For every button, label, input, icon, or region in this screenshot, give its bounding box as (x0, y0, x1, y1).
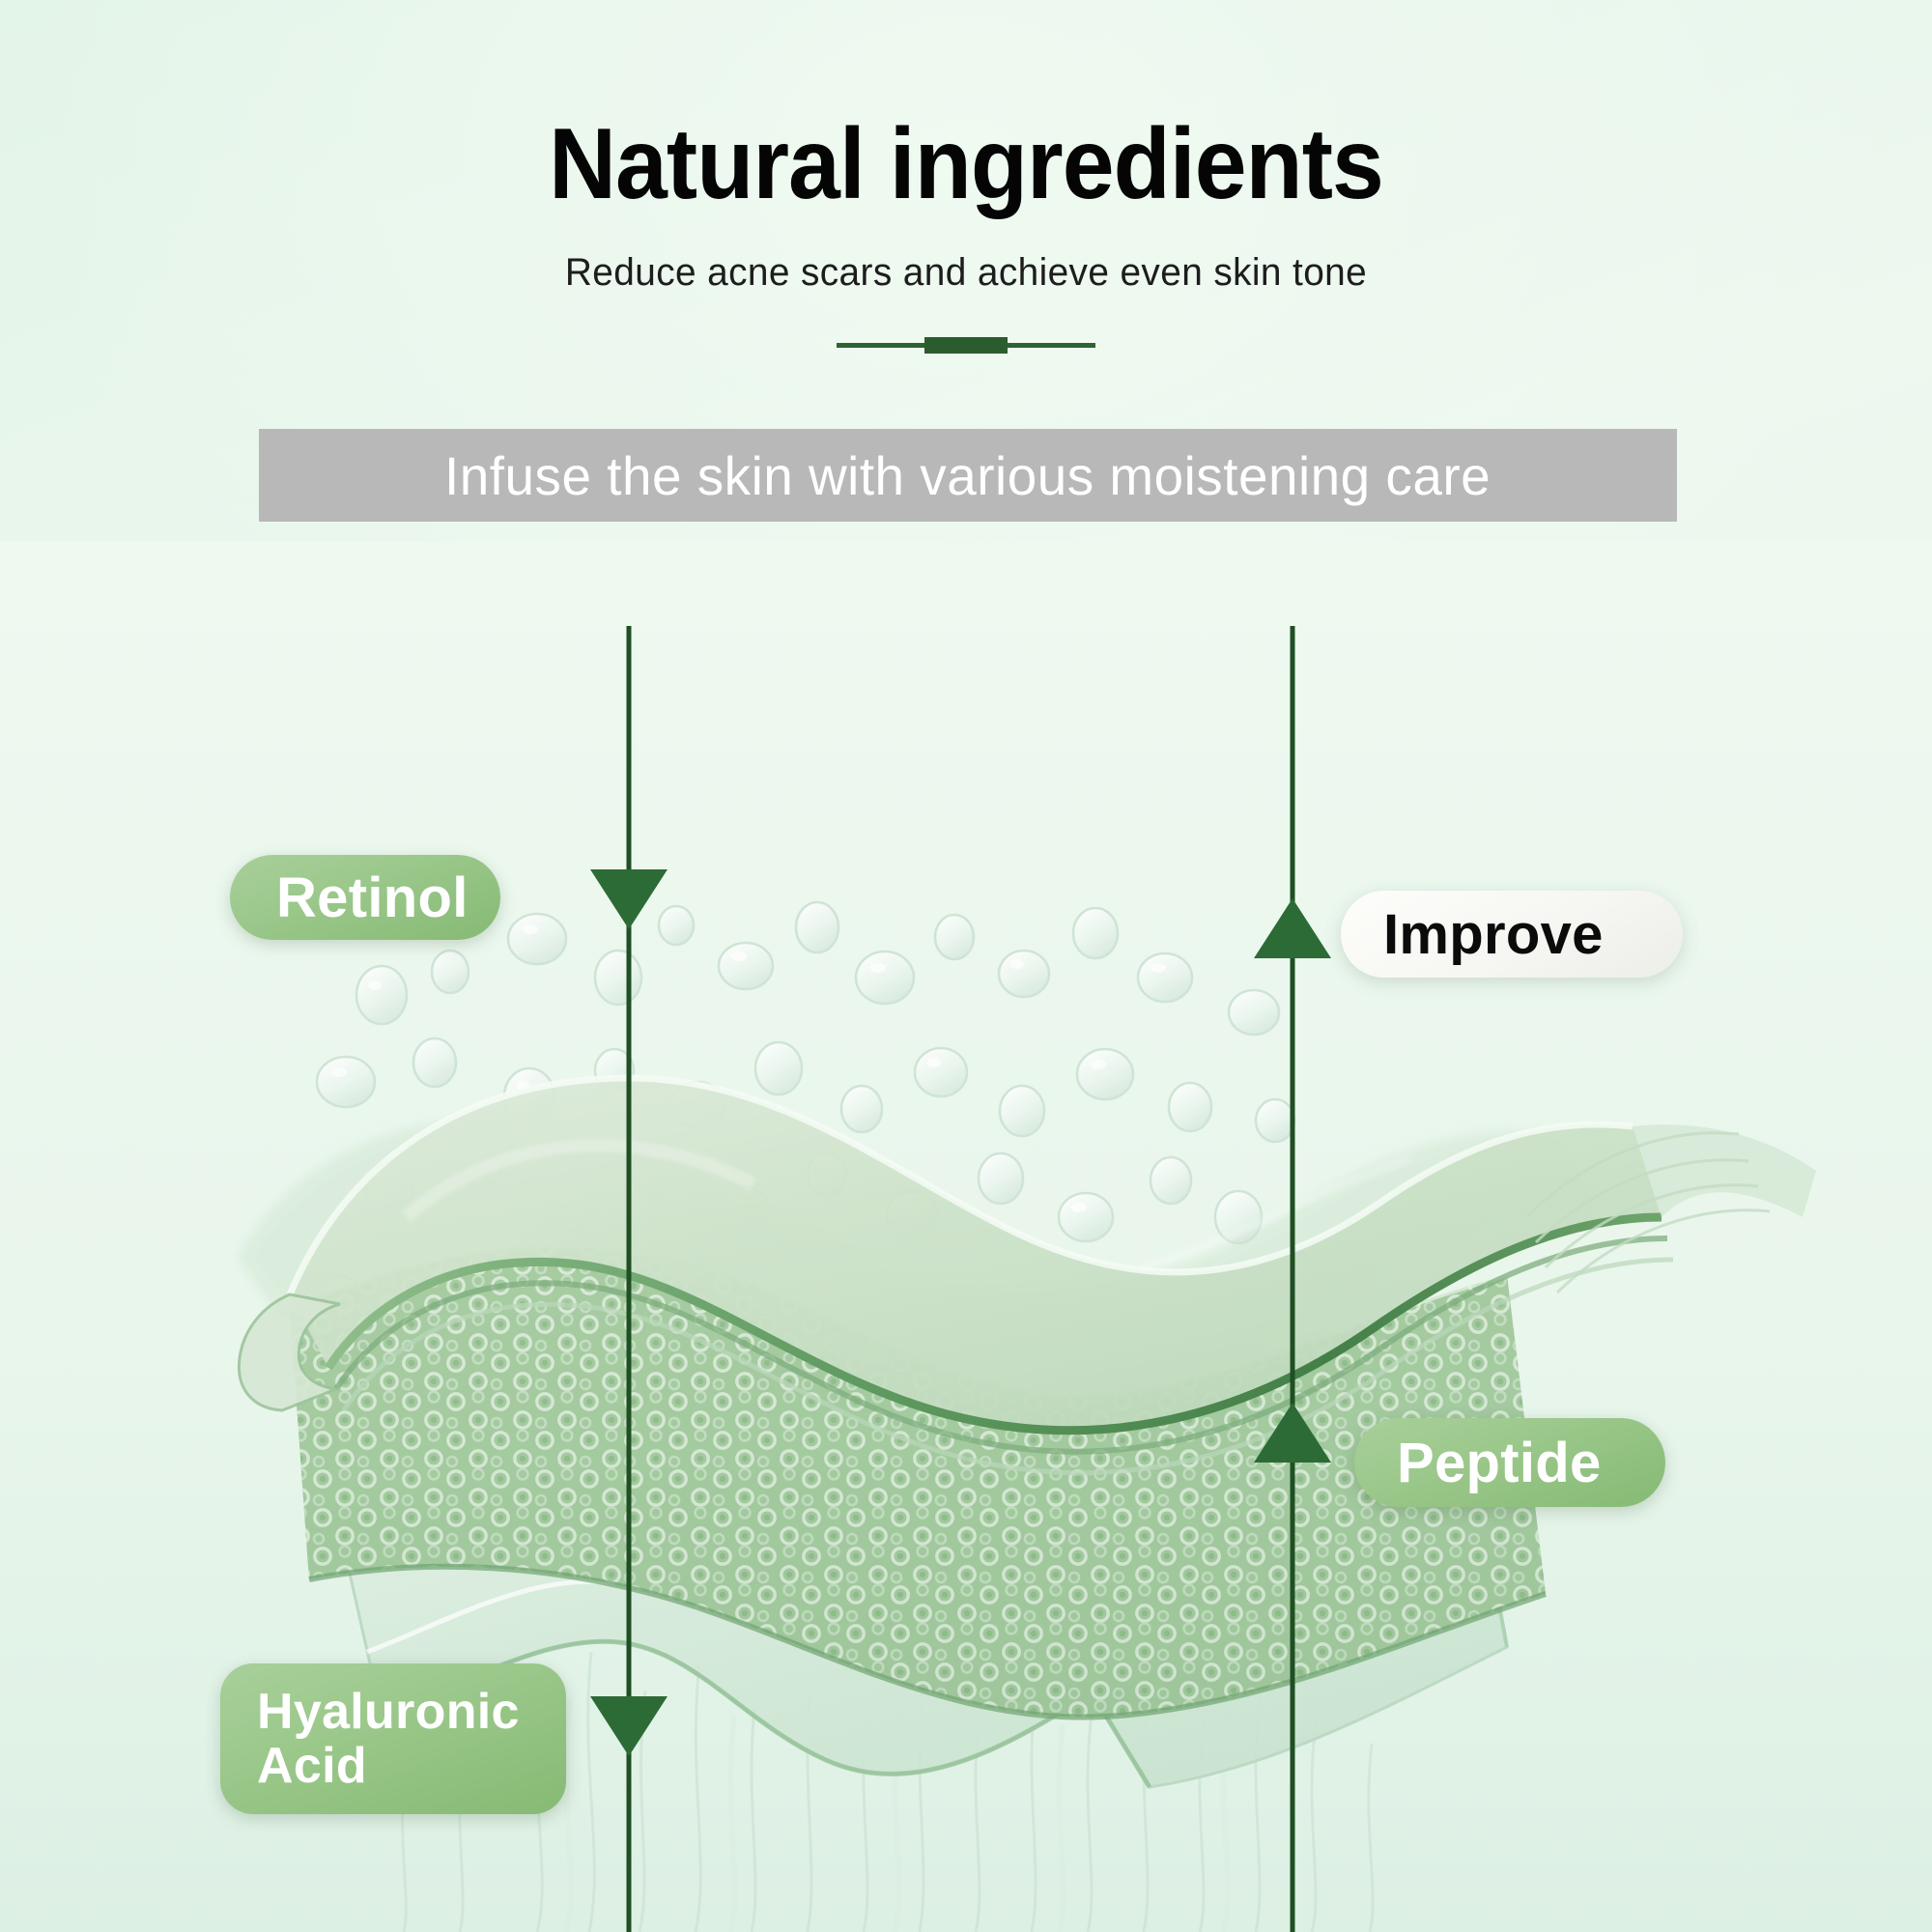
banner: Infuse the skin with various moistening … (259, 429, 1677, 522)
badge-improve-label: Improve (1383, 902, 1604, 967)
badge-retinol-label: Retinol (276, 866, 469, 930)
badge-hyaluronic-acid-label-line2: Acid (257, 1739, 367, 1793)
page-title: Natural ingredients (68, 114, 1864, 214)
badge-peptide-label: Peptide (1397, 1431, 1602, 1495)
badge-hyaluronic-acid-label-line1: Hyaluronic (257, 1685, 520, 1739)
ornament-divider-icon (837, 337, 1095, 353)
badge-improve[interactable]: Improve (1341, 891, 1683, 978)
divider-knob (924, 337, 1008, 354)
badge-peptide[interactable]: Peptide (1354, 1418, 1665, 1507)
banner-text: Infuse the skin with various moistening … (444, 444, 1491, 507)
page-subtitle: Reduce acne scars and achieve even skin … (29, 251, 1903, 295)
badge-retinol[interactable]: Retinol (230, 855, 500, 940)
badge-hyaluronic-acid[interactable]: Hyaluronic Acid (220, 1663, 566, 1814)
header: Natural ingredients Reduce acne scars an… (0, 0, 1932, 353)
